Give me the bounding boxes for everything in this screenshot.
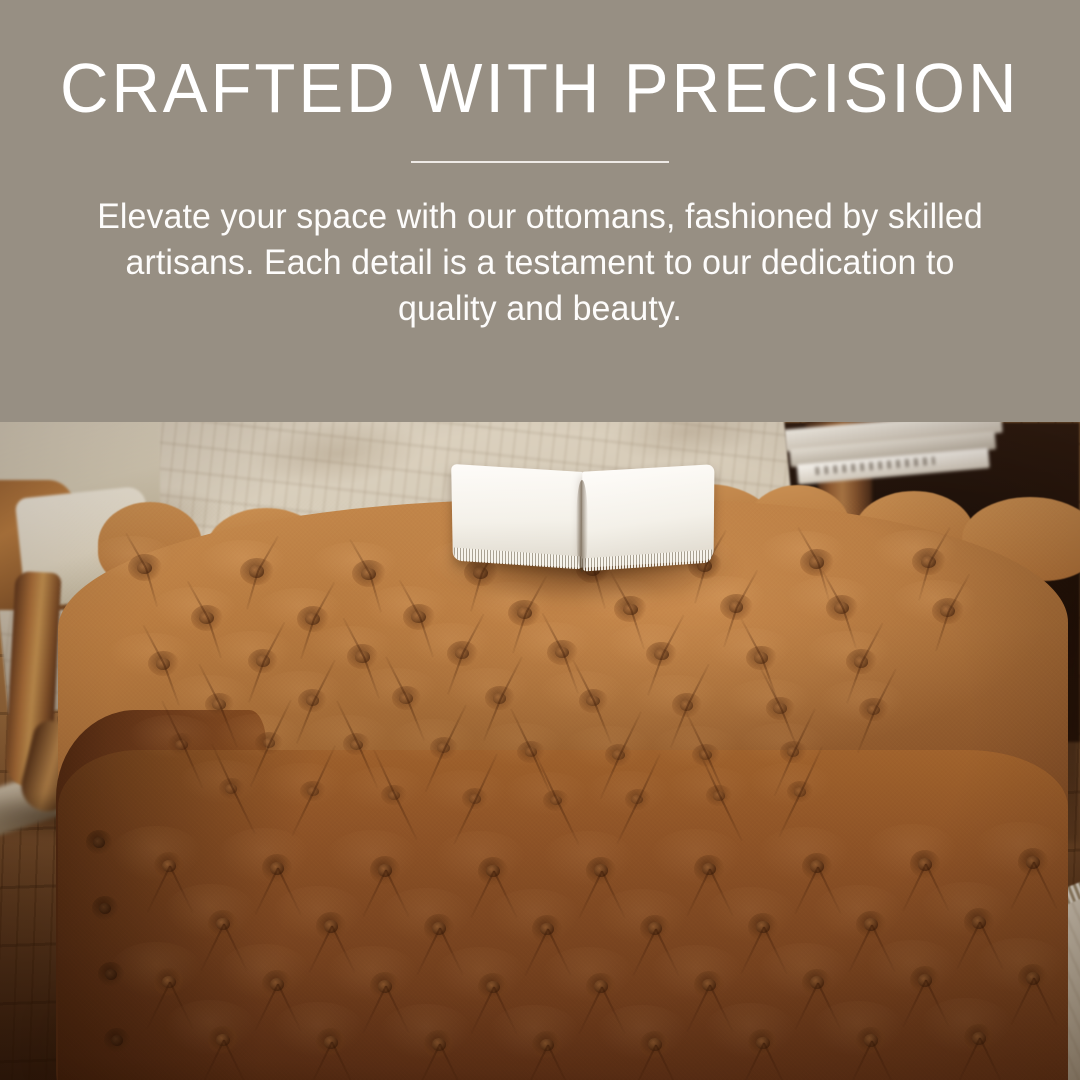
subtitle-text: Elevate your space with our ottomans, fa… bbox=[96, 193, 984, 331]
book-spine bbox=[576, 480, 588, 572]
open-book bbox=[452, 468, 714, 586]
title-divider bbox=[411, 161, 669, 163]
header-band: CRAFTED WITH PRECISION Elevate your spac… bbox=[0, 0, 1080, 422]
marketing-banner: CRAFTED WITH PRECISION Elevate your spac… bbox=[0, 0, 1080, 1080]
page-title: CRAFTED WITH PRECISION bbox=[60, 52, 1019, 126]
product-photo bbox=[0, 422, 1080, 1080]
